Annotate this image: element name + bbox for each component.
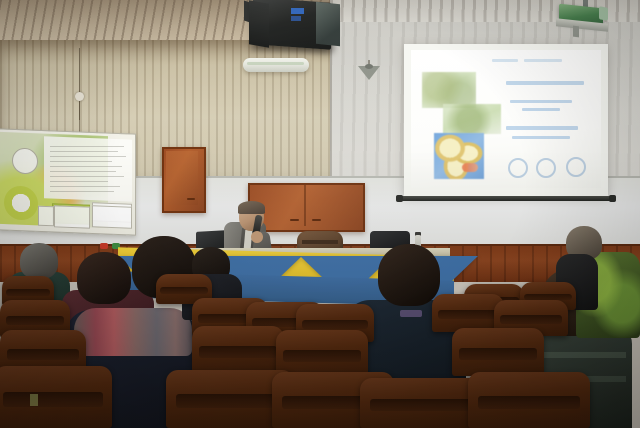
poster-text-line — [50, 166, 122, 167]
chair-front-far-right — [468, 372, 590, 428]
slide-body-line-3 — [506, 126, 578, 130]
poster-text-line — [50, 186, 120, 187]
poster-box — [38, 206, 54, 227]
poster-text-line — [50, 146, 124, 147]
slide-title-line — [506, 81, 584, 85]
chair-front-left — [0, 366, 112, 428]
slide-image-field — [443, 104, 501, 134]
person-striped-scarf — [74, 308, 192, 356]
poster-text-line — [50, 176, 124, 177]
presenter-hand — [251, 231, 263, 243]
person-dark-hair-left-head — [77, 252, 131, 304]
floor-marker — [30, 394, 38, 406]
cabinet-handle-icon — [187, 198, 195, 200]
cabinet-handle-icon — [290, 219, 299, 221]
poster-box — [92, 205, 132, 229]
poster-seal-icon — [12, 148, 38, 175]
air-conditioner-vent — [247, 62, 304, 65]
tall-cabinet-highlight — [166, 151, 198, 205]
table-item-red — [100, 243, 108, 249]
poster-text-line — [50, 171, 116, 172]
projector-arm — [573, 26, 579, 38]
slide-header-line-1 — [492, 59, 518, 62]
poster-text-line — [50, 156, 126, 157]
poster-text-line — [50, 161, 112, 162]
slide-image-plate — [434, 133, 484, 179]
hanging-fixture-icon — [75, 92, 84, 101]
speaker-led-icon — [291, 8, 304, 14]
screen-bar-end-left — [396, 195, 403, 202]
ceiling-speaker-face — [249, 0, 269, 48]
poster-logo-icon — [4, 185, 38, 220]
chair-row3-centre-2 — [276, 330, 368, 378]
chair-row3-right — [452, 328, 544, 376]
slide-icon-2 — [536, 158, 556, 178]
wide-wall-cabinet — [248, 183, 365, 232]
poster-box — [54, 205, 90, 228]
projector-lens-icon — [599, 6, 608, 21]
cone-speaker-cap — [365, 64, 373, 69]
person-grey-hair-left-head — [20, 243, 58, 279]
presenter-hair — [238, 201, 265, 214]
empty-chair-slat — [302, 240, 338, 244]
slide-icon-3 — [566, 157, 586, 177]
screen-bar-end-right — [609, 195, 616, 202]
slide-icon-1 — [508, 158, 528, 178]
screen-bottom-bar — [400, 196, 612, 201]
slide-body-line-2 — [522, 108, 560, 111]
photo-scene — [0, 0, 640, 428]
poster-text-line — [50, 151, 118, 152]
chair-row3-centre — [192, 326, 284, 374]
speaker-led-icon-2 — [291, 16, 301, 21]
slide-body-line-4 — [512, 136, 570, 139]
person-navy-centre-right-head — [378, 244, 440, 306]
slide-image-landscape — [422, 72, 476, 108]
slide-body-line-1 — [510, 100, 572, 103]
ceiling-speaker-horn — [316, 2, 340, 47]
cabinet-divider — [304, 185, 306, 226]
air-conditioner-icon — [243, 58, 309, 72]
slide-header-line-2 — [524, 59, 562, 62]
poster-text-line — [50, 181, 108, 182]
person-navy-collar-tag — [400, 310, 422, 317]
poster-text-line — [50, 191, 114, 192]
slide-image-plate-detail — [462, 163, 478, 172]
cabinet-handle-icon — [312, 219, 321, 221]
